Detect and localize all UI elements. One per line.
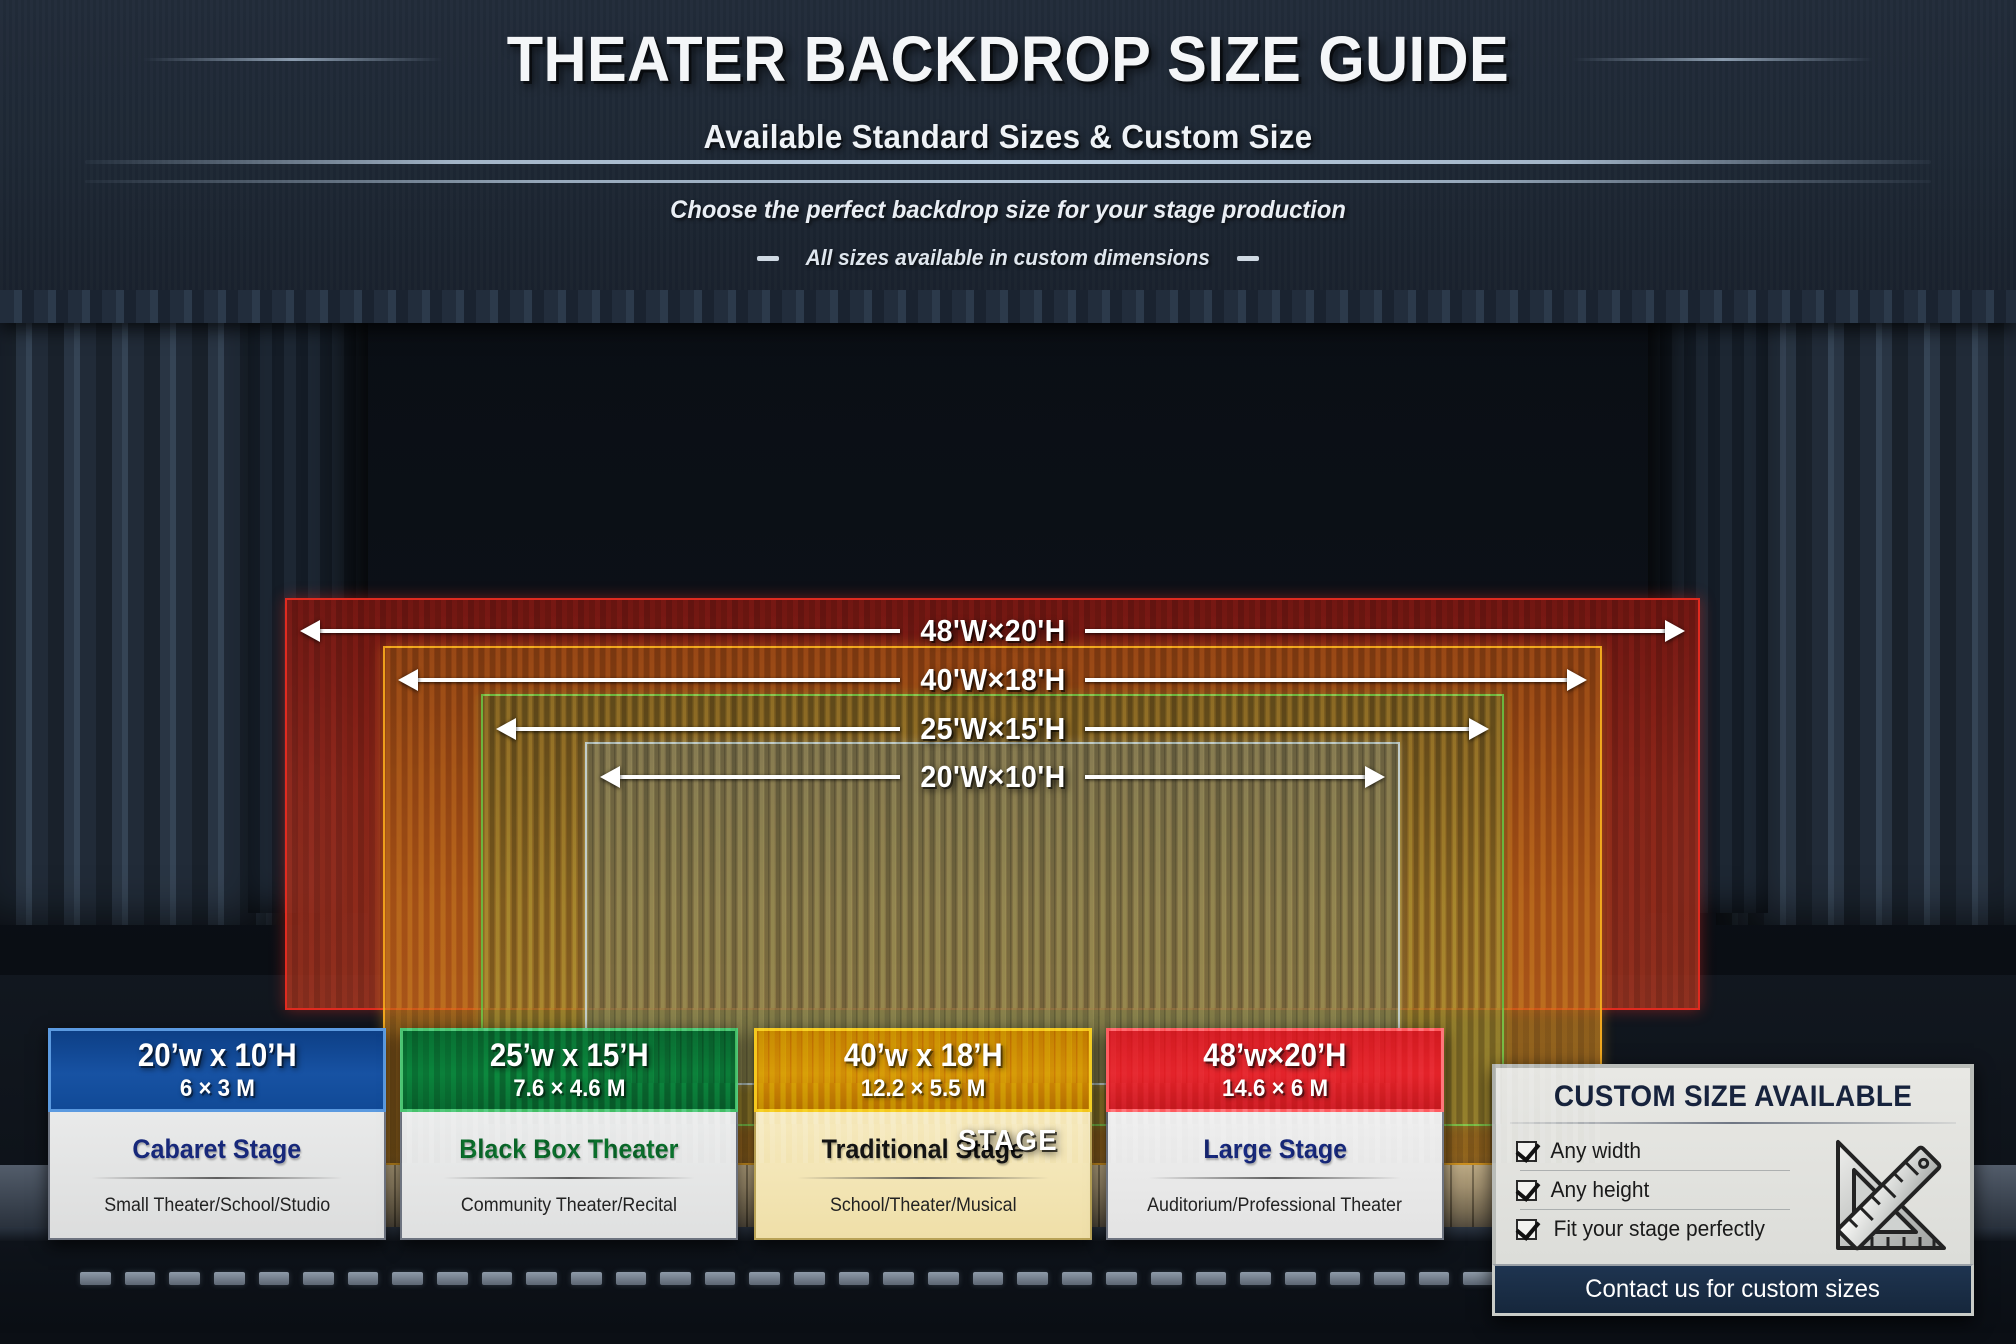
footlight <box>526 1272 557 1285</box>
card-header: 40’w x 18’H 12.2 × 5.5 M <box>754 1028 1092 1112</box>
card-usage: Small Theater/School/Studio <box>104 1195 330 1217</box>
footlight <box>839 1272 870 1285</box>
footlight <box>214 1272 245 1285</box>
footlight <box>571 1272 602 1285</box>
theater-scene: 48'W×20'H 40'W×18'H 25'W×15'H <box>0 265 2016 975</box>
footlight <box>1151 1272 1182 1285</box>
custom-feature-item[interactable]: Any height <box>1516 1171 1816 1209</box>
custom-size-panel[interactable]: CUSTOM SIZE AVAILABLE Any width Any heig… <box>1492 1064 1974 1316</box>
card-usage: Community Theater/Recital <box>461 1195 677 1217</box>
card-header: 48’w×20’H 14.6 × 6 M <box>1106 1028 1444 1112</box>
card-size-feet: 25’w x 15’H <box>490 1037 649 1074</box>
title-rule-right <box>1573 58 1873 61</box>
footlight <box>1106 1272 1137 1285</box>
custom-feature-label: Fit your stage perfectly <box>1554 1216 1765 1242</box>
page-title: THEATER BACKDROP SIZE GUIDE <box>507 22 1509 96</box>
footlight <box>1285 1272 1316 1285</box>
header-note: All sizes available in custom dimensions <box>806 245 1210 271</box>
footlight <box>1463 1272 1494 1285</box>
footlight <box>125 1272 156 1285</box>
custom-panel-footer[interactable]: Contact us for custom sizes <box>1492 1264 1974 1316</box>
footlight <box>1419 1272 1450 1285</box>
card-usage: School/Theater/Musical <box>830 1195 1017 1217</box>
footlight <box>1062 1272 1093 1285</box>
card-size-meters: 6 × 3 M <box>179 1075 254 1103</box>
footlight <box>749 1272 780 1285</box>
title-row: THEATER BACKDROP SIZE GUIDE <box>0 22 2016 96</box>
title-rule-left <box>143 58 443 61</box>
header-subtitle: Available Standard Sizes & Custom Size <box>50 118 1965 156</box>
header-note-row: All sizes available in custom dimensions <box>0 245 2016 271</box>
card-header: 25’w x 15’H 7.6 × 4.6 M <box>400 1028 738 1112</box>
card-size-feet: 40’w x 18’H <box>844 1037 1003 1074</box>
card-size-feet: 48’w×20’H <box>1203 1037 1346 1074</box>
dash-right-icon <box>1237 256 1259 261</box>
card-size-feet: 20’w x 10’H <box>138 1037 297 1074</box>
header-rule-top <box>85 160 1931 164</box>
card-size-meters: 14.6 × 6 M <box>1222 1075 1328 1103</box>
card-size-meters: 7.6 × 4.6 M <box>513 1075 625 1103</box>
stage-label: STAGE <box>50 1125 1965 1158</box>
custom-panel-title: CUSTOM SIZE AVAILABLE <box>1526 1080 1941 1114</box>
footlight <box>1240 1272 1271 1285</box>
custom-panel-rule <box>1510 1122 1956 1124</box>
card-usage: Auditorium/Professional Theater <box>1148 1195 1403 1217</box>
footlight <box>259 1272 290 1285</box>
footlight <box>1330 1272 1361 1285</box>
card-divider <box>797 1177 1049 1179</box>
card-header: 20’w x 10’H 6 × 3 M <box>48 1028 386 1112</box>
checkbox-checked-icon[interactable] <box>1516 1180 1537 1201</box>
footlight <box>437 1272 468 1285</box>
dash-left-icon <box>757 256 779 261</box>
header-tagline: Choose the perfect backdrop size for you… <box>50 196 1965 225</box>
footlight <box>392 1272 423 1285</box>
footlight <box>883 1272 914 1285</box>
card-size-meters: 12.2 × 5.5 M <box>861 1075 986 1103</box>
header-rule-bottom <box>85 180 1931 183</box>
footlight <box>169 1272 200 1285</box>
poster-header: THEATER BACKDROP SIZE GUIDE Available St… <box>0 0 2016 290</box>
footlight <box>1196 1272 1227 1285</box>
footlight <box>928 1272 959 1285</box>
checkbox-checked-icon[interactable] <box>1516 1219 1537 1240</box>
card-divider <box>1149 1177 1401 1179</box>
footlight <box>482 1272 513 1285</box>
custom-feature-label: Any height <box>1551 1177 1650 1203</box>
card-divider <box>91 1177 343 1179</box>
footlight <box>705 1272 736 1285</box>
footlight <box>1017 1272 1048 1285</box>
footlight <box>303 1272 334 1285</box>
footlight <box>348 1272 379 1285</box>
footlight <box>973 1272 1004 1285</box>
footlight <box>660 1272 691 1285</box>
infographic-poster: 48'W×20'H 40'W×18'H 25'W×15'H <box>0 0 2016 1344</box>
custom-panel-footer-text: Contact us for custom sizes <box>1586 1275 1881 1304</box>
card-divider <box>443 1177 695 1179</box>
footlight <box>80 1272 111 1285</box>
footlight <box>616 1272 647 1285</box>
footlight <box>1374 1272 1405 1285</box>
footlight <box>794 1272 825 1285</box>
custom-feature-item[interactable]: Fit your stage perfectly <box>1516 1210 1816 1248</box>
